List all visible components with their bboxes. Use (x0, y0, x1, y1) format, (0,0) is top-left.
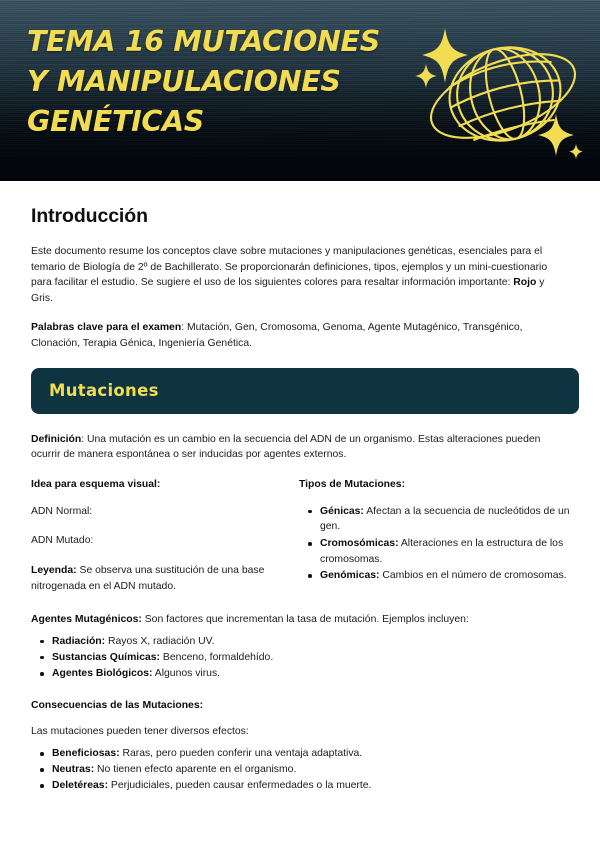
list-item-term: Radiación: (52, 636, 105, 647)
list-item-desc: Cambios en el número de cromosomas. (379, 570, 566, 581)
list-item-term: Agentes Biológicos: (52, 668, 152, 679)
list-item-desc: Rayos X, radiación UV. (105, 636, 214, 647)
column-esquema-visual: Idea para esquema visual: ADN Normal: AD… (31, 479, 299, 594)
list-item: Beneficiosas: Raras, pero pueden conferi… (52, 746, 572, 762)
highlight-rojo: Rojo (513, 277, 536, 288)
page-title: Introducción (31, 205, 572, 228)
two-column-section: Idea para esquema visual: ADN Normal: AD… (31, 479, 572, 594)
esquema-legend: Leyenda: Se observa una sustitución de u… (31, 563, 287, 594)
list-item-term: Sustancias Químicas: (52, 652, 160, 663)
adn-mutado-line: ADN Mutado: (31, 533, 287, 549)
hero-banner: TEMA 16 MUTACIONES Y MANIPULACIONES GENÉ… (0, 0, 600, 181)
section-banner-label: Mutaciones (49, 381, 159, 400)
consecuencias-intro: Las mutaciones pueden tener diversos efe… (31, 724, 551, 740)
list-item: Radiación: Rayos X, radiación UV. (52, 634, 572, 650)
agentes-intro: Agentes Mutagénicos: Son factores que in… (31, 612, 551, 628)
definition-block: Definición: Una mutación es un cambio en… (31, 432, 572, 463)
wireframe-globe-icon (404, 16, 594, 168)
list-item-term: Genómicas: (320, 570, 379, 581)
esquema-heading: Idea para esquema visual: (31, 479, 287, 490)
consecuencias-block: Consecuencias de las Mutaciones: Las mut… (31, 700, 572, 794)
intro-paragraph-text: Este documento resume los conceptos clav… (31, 246, 547, 288)
column-tipos-mutaciones: Tipos de Mutaciones: Génicas: Afectan a … (299, 479, 571, 594)
list-item-term: Beneficiosas: (52, 748, 120, 759)
list-item-desc: No tienen efecto aparente en el organism… (94, 764, 296, 775)
list-item-desc: Perjudiciales, pueden causar enfermedade… (108, 780, 371, 791)
definition-text: : Una mutación es un cambio en la secuen… (31, 434, 540, 461)
consecuencias-list: Beneficiosas: Raras, pero pueden conferi… (31, 746, 572, 794)
legend-label: Leyenda: (31, 565, 77, 576)
list-item-desc: Raras, pero pueden conferir una ventaja … (120, 748, 363, 759)
list-item-term: Génicas: (320, 506, 364, 517)
list-item-term: Neutras: (52, 764, 94, 775)
agentes-intro-text: Son factores que incrementan la tasa de … (142, 614, 469, 625)
list-item: Genómicas: Cambios en el número de cromo… (320, 568, 571, 584)
keywords-label: Palabras clave para el examen (31, 322, 181, 333)
list-item-desc: Algunos virus. (152, 668, 220, 679)
section-banner-mutaciones: Mutaciones (31, 368, 579, 414)
list-item: Sustancias Químicas: Benceno, formaldehí… (52, 650, 572, 666)
document-title: TEMA 16 MUTACIONES Y MANIPULACIONES GENÉ… (27, 22, 427, 142)
list-item-term: Deletéreas: (52, 780, 108, 791)
list-item: Agentes Biológicos: Algunos virus. (52, 666, 572, 682)
list-item-term: Cromosómicas: (320, 538, 399, 549)
keywords-paragraph: Palabras clave para el examen: Mutación,… (31, 320, 551, 351)
tipos-list: Génicas: Afectan a la secuencia de nucle… (299, 504, 571, 584)
adn-normal-line: ADN Normal: (31, 504, 287, 520)
agentes-label: Agentes Mutagénicos: (31, 614, 142, 625)
list-item: Neutras: No tienen efecto aparente en el… (52, 762, 572, 778)
intro-paragraph: Este documento resume los conceptos clav… (31, 244, 551, 306)
list-item: Génicas: Afectan a la secuencia de nucle… (320, 504, 571, 535)
tipos-heading: Tipos de Mutaciones: (299, 479, 571, 490)
agentes-mutagenicos-block: Agentes Mutagénicos: Son factores que in… (31, 612, 572, 681)
list-item: Deletéreas: Perjudiciales, pueden causar… (52, 778, 572, 794)
document-content: Introducción Este documento resume los c… (0, 181, 600, 794)
definition-label: Definición (31, 434, 81, 445)
agentes-list: Radiación: Rayos X, radiación UV. Sustan… (31, 634, 572, 682)
consecuencias-heading: Consecuencias de las Mutaciones: (31, 700, 572, 711)
definition-paragraph: Definición: Una mutación es un cambio en… (31, 432, 551, 463)
list-item-desc: Benceno, formaldehído. (160, 652, 273, 663)
list-item: Cromosómicas: Alteraciones en la estruct… (320, 536, 571, 567)
